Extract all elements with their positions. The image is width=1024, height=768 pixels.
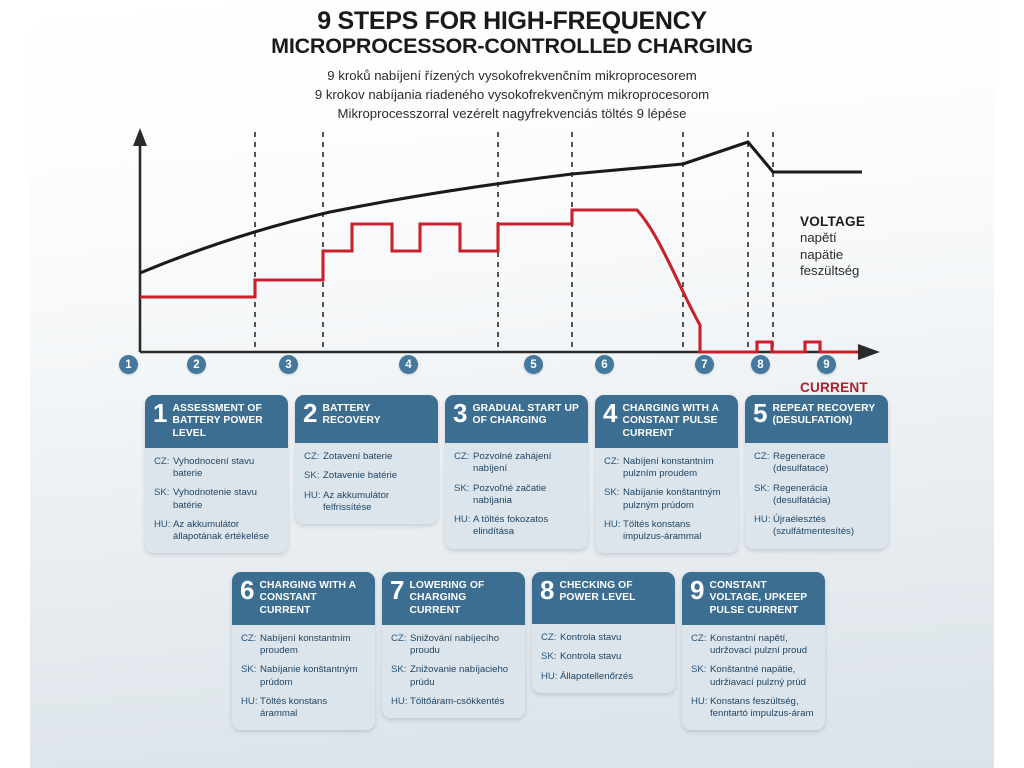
step-card-body-1: CZ:Vyhodnocení stavu baterieSK:Vyhodnote…	[145, 448, 288, 554]
step-card-body-3: CZ:Pozvolné zahájení nabíjeníSK:Pozvoľné…	[445, 443, 588, 549]
translation-text: Kontrola stavu	[560, 632, 666, 644]
step-card-number-8: 8	[540, 579, 554, 603]
x-axis	[140, 344, 880, 360]
translation-text: Konštantné napätie, udržiavací pulzný pr…	[710, 664, 816, 689]
legend-voltage-sk: napätie	[800, 247, 865, 264]
step-card-6[interactable]: 6CHARGING WITH A CONSTANT CURRENTCZ:Nabí…	[232, 572, 375, 730]
current-upkeep-pulses	[748, 342, 858, 352]
step-card-translation-row: CZ:Pozvolné zahájení nabíjení	[454, 451, 579, 476]
step-card-translation-row: HU:Töltőáram-csökkentés	[391, 696, 516, 708]
step-card-number-1: 1	[153, 402, 167, 426]
translation-text: Znižovanie nabíjacieho prúdu	[410, 664, 516, 689]
translation-text: Zotavenie batérie	[323, 470, 429, 482]
translation-text: Töltés konstans árammal	[260, 696, 366, 721]
axis-step-badge-4: 4	[399, 355, 418, 374]
axis-step-badge-6: 6	[595, 355, 614, 374]
language-code-label: HU:	[541, 671, 560, 683]
title-block: 9 STEPS FOR HIGH-FREQUENCY MICROPROCESSO…	[0, 8, 1024, 123]
step-card-header-2: 2BATTERY RECOVERY	[295, 395, 438, 443]
language-code-label: HU:	[241, 696, 260, 721]
translation-text: Snižování nabíjecího proudu	[410, 633, 516, 658]
translation-text: A töltés fokozatos elindítása	[473, 514, 579, 539]
step-card-title-5: REPEAT RECOVERY (DESULFATION)	[772, 402, 880, 428]
step-card-header-5: 5REPEAT RECOVERY (DESULFATION)	[745, 395, 888, 443]
legend-voltage-head: VOLTAGE	[800, 213, 865, 230]
step-card-title-9: CONSTANT VOLTAGE, UPKEEP PULSE CURRENT	[709, 579, 817, 617]
subtitle-block: 9 kroků nabíjení řízených vysokofrekvenč…	[0, 67, 1024, 123]
y-axis-arrow	[133, 128, 147, 146]
step-card-translation-row: CZ:Nabíjení konstantním pulzním proudem	[604, 456, 729, 481]
translation-text: Konstantní napětí, udržovací pulzní prou…	[710, 633, 816, 658]
language-code-label: SK:	[754, 483, 773, 508]
language-code-label: SK:	[241, 664, 260, 689]
axis-step-badge-8: 8	[751, 355, 770, 374]
step-card-translation-row: HU:Töltés konstans impulzus-árammal	[604, 519, 729, 544]
step-card-header-4: 4CHARGING WITH A CONSTANT PULSE CURRENT	[595, 395, 738, 448]
chart-svg	[0, 120, 1024, 385]
step-card-translation-row: SK:Konštantné napätie, udržiavací pulzný…	[691, 664, 816, 689]
translation-text: Nabíjanie konštantným prúdom	[260, 664, 366, 689]
translation-text: Zotavení baterie	[323, 451, 429, 463]
current-curve	[140, 210, 748, 352]
step-card-translation-row: SK:Znižovanie nabíjacieho prúdu	[391, 664, 516, 689]
language-code-label: CZ:	[541, 632, 560, 644]
step-card-translation-row: HU:A töltés fokozatos elindítása	[454, 514, 579, 539]
step-card-1[interactable]: 1ASSESSMENT OF BATTERY POWER LEVELCZ:Vyh…	[145, 395, 288, 553]
translation-text: Pozvoľné začatie nabíjania	[473, 483, 579, 508]
step-card-number-2: 2	[303, 402, 317, 426]
charging-curve-chart: VOLTAGE napětí napätie feszültség CURREN…	[0, 120, 1024, 385]
language-code-label: HU:	[691, 696, 710, 721]
language-code-label: SK:	[304, 470, 323, 482]
translation-text: Újraélesztés (szulfátmentesítés)	[773, 514, 879, 539]
main-title-line1: 9 STEPS FOR HIGH-FREQUENCY	[0, 8, 1024, 34]
language-code-label: HU:	[454, 514, 473, 539]
language-code-label: CZ:	[391, 633, 410, 658]
step-card-title-1: ASSESSMENT OF BATTERY POWER LEVEL	[172, 402, 280, 440]
step-card-header-3: 3GRADUAL START UP OF CHARGING	[445, 395, 588, 443]
step-card-translation-row: CZ:Nabíjení konstantním proudem	[241, 633, 366, 658]
language-code-label: CZ:	[154, 456, 173, 481]
step-card-translation-row: CZ:Vyhodnocení stavu baterie	[154, 456, 279, 481]
language-code-label: CZ:	[304, 451, 323, 463]
language-code-label: SK:	[454, 483, 473, 508]
language-code-label: SK:	[691, 664, 710, 689]
step-card-title-6: CHARGING WITH A CONSTANT CURRENT	[259, 579, 367, 617]
x-axis-arrow	[858, 344, 880, 360]
axis-step-badge-1: 1	[119, 355, 138, 374]
language-code-label: HU:	[604, 519, 623, 544]
translation-text: Az akkumulátor felfrissítése	[323, 490, 429, 515]
translation-text: Regenerácia (desulfatácia)	[773, 483, 879, 508]
language-code-label: HU:	[391, 696, 410, 708]
step-card-body-4: CZ:Nabíjení konstantním pulzním proudemS…	[595, 448, 738, 554]
translation-text: Kontrola stavu	[560, 651, 666, 663]
step-card-7[interactable]: 7LOWERING OF CHARGING CURRENTCZ:Snižován…	[382, 572, 525, 718]
step-card-body-8: CZ:Kontrola stavuSK:Kontrola stavuHU:Áll…	[532, 624, 675, 693]
step-card-number-4: 4	[603, 402, 617, 426]
main-title-line2: MICROPROCESSOR-CONTROLLED CHARGING	[0, 34, 1024, 58]
translation-text: Az akkumulátor állapotának értékelése	[173, 519, 279, 544]
step-card-title-8: CHECKING OF POWER LEVEL	[559, 579, 667, 605]
translation-text: Nabíjanie konštantným pulzným prúdom	[623, 487, 729, 512]
translation-text: Regenerace (desulfatace)	[773, 451, 879, 476]
step-card-number-5: 5	[753, 402, 767, 426]
language-code-label: CZ:	[754, 451, 773, 476]
language-code-label: CZ:	[241, 633, 260, 658]
axis-step-badge-2: 2	[187, 355, 206, 374]
step-card-body-7: CZ:Snižování nabíjecího prouduSK:Znižova…	[382, 625, 525, 718]
voltage-curve	[140, 142, 862, 273]
axis-step-badge-9: 9	[817, 355, 836, 374]
language-code-label: CZ:	[691, 633, 710, 658]
language-code-label: SK:	[154, 487, 173, 512]
translation-text: Pozvolné zahájení nabíjení	[473, 451, 579, 476]
translation-text: Állapotellenőrzés	[560, 671, 666, 683]
step-card-translation-row: HU:Állapotellenőrzés	[541, 671, 666, 683]
step-card-8[interactable]: 8CHECKING OF POWER LEVELCZ:Kontrola stav…	[532, 572, 675, 693]
step-card-translation-row: SK:Nabíjanie konštantným pulzným prúdom	[604, 487, 729, 512]
translation-text: Vyhodnotenie stavu batérie	[173, 487, 279, 512]
step-card-body-2: CZ:Zotavení baterieSK:Zotavenie batérieH…	[295, 443, 438, 524]
step-card-translation-row: HU:Újraélesztés (szulfátmentesítés)	[754, 514, 879, 539]
infographic-stage: 9 STEPS FOR HIGH-FREQUENCY MICROPROCESSO…	[0, 0, 1024, 768]
language-code-label: HU:	[154, 519, 173, 544]
step-card-header-9: 9CONSTANT VOLTAGE, UPKEEP PULSE CURRENT	[682, 572, 825, 625]
step-card-9[interactable]: 9CONSTANT VOLTAGE, UPKEEP PULSE CURRENTC…	[682, 572, 825, 730]
step-card-translation-row: HU:Az akkumulátor állapotának értékelése	[154, 519, 279, 544]
step-card-title-4: CHARGING WITH A CONSTANT PULSE CURRENT	[622, 402, 730, 440]
step-card-translation-row: CZ:Snižování nabíjecího proudu	[391, 633, 516, 658]
step-card-title-3: GRADUAL START UP OF CHARGING	[472, 402, 580, 428]
step-card-translation-row: SK:Nabíjanie konštantným prúdom	[241, 664, 366, 689]
step-card-2[interactable]: 2BATTERY RECOVERYCZ:Zotavení baterieSK:Z…	[295, 395, 438, 524]
step-card-translation-row: SK:Kontrola stavu	[541, 651, 666, 663]
axis-step-badge-3: 3	[279, 355, 298, 374]
translation-text: Nabíjení konstantním proudem	[260, 633, 366, 658]
step-card-translation-row: HU:Konstans feszültség, fenntartó impulz…	[691, 696, 816, 721]
step-card-header-7: 7LOWERING OF CHARGING CURRENT	[382, 572, 525, 625]
step-card-number-6: 6	[240, 579, 254, 603]
axis-step-badge-5: 5	[524, 355, 543, 374]
step-card-3[interactable]: 3GRADUAL START UP OF CHARGINGCZ:Pozvolné…	[445, 395, 588, 549]
step-card-header-6: 6CHARGING WITH A CONSTANT CURRENT	[232, 572, 375, 625]
step-card-number-7: 7	[390, 579, 404, 603]
step-card-body-9: CZ:Konstantní napětí, udržovací pulzní p…	[682, 625, 825, 731]
step-card-translation-row: CZ:Regenerace (desulfatace)	[754, 451, 879, 476]
step-card-4[interactable]: 4CHARGING WITH A CONSTANT PULSE CURRENTC…	[595, 395, 738, 553]
language-code-label: CZ:	[454, 451, 473, 476]
step-card-header-1: 1ASSESSMENT OF BATTERY POWER LEVEL	[145, 395, 288, 448]
step-card-translation-row: CZ:Konstantní napětí, udržovací pulzní p…	[691, 633, 816, 658]
legend-current-head: CURRENT	[800, 379, 868, 396]
step-card-translation-row: SK:Zotavenie batérie	[304, 470, 429, 482]
step-card-title-2: BATTERY RECOVERY	[322, 402, 430, 428]
step-card-body-6: CZ:Nabíjení konstantním proudemSK:Nabíja…	[232, 625, 375, 731]
step-card-5[interactable]: 5REPEAT RECOVERY (DESULFATION)CZ:Regener…	[745, 395, 888, 549]
language-code-label: HU:	[304, 490, 323, 515]
language-code-label: SK:	[604, 487, 623, 512]
translation-text: Töltőáram-csökkentés	[410, 696, 516, 708]
step-card-translation-row: HU:Töltés konstans árammal	[241, 696, 366, 721]
step-card-header-8: 8CHECKING OF POWER LEVEL	[532, 572, 675, 624]
step-card-translation-row: SK:Vyhodnotenie stavu batérie	[154, 487, 279, 512]
step-card-translation-row: SK:Pozvoľné začatie nabíjania	[454, 483, 579, 508]
step-card-translation-row: HU:Az akkumulátor felfrissítése	[304, 490, 429, 515]
step-card-number-3: 3	[453, 402, 467, 426]
language-code-label: CZ:	[604, 456, 623, 481]
step-card-body-5: CZ:Regenerace (desulfatace)SK:Regeneráci…	[745, 443, 888, 549]
translation-text: Töltés konstans impulzus-árammal	[623, 519, 729, 544]
legend-voltage: VOLTAGE napětí napätie feszültség	[800, 213, 865, 280]
translation-text: Konstans feszültség, fenntartó impulzus-…	[710, 696, 816, 721]
legend-voltage-cz: napětí	[800, 230, 865, 247]
step-card-translation-row: CZ:Kontrola stavu	[541, 632, 666, 644]
language-code-label: HU:	[754, 514, 773, 539]
language-code-label: SK:	[391, 664, 410, 689]
step-card-translation-row: CZ:Zotavení baterie	[304, 451, 429, 463]
step-card-title-7: LOWERING OF CHARGING CURRENT	[409, 579, 517, 617]
subtitle-sk: 9 krokov nabíjania riadeného vysokofrekv…	[0, 86, 1024, 105]
step-card-number-9: 9	[690, 579, 704, 603]
translation-text: Vyhodnocení stavu baterie	[173, 456, 279, 481]
translation-text: Nabíjení konstantním pulzním proudem	[623, 456, 729, 481]
subtitle-cz: 9 kroků nabíjení řízených vysokofrekvenč…	[0, 67, 1024, 86]
axis-step-badge-7: 7	[695, 355, 714, 374]
language-code-label: SK:	[541, 651, 560, 663]
legend-voltage-hu: feszültség	[800, 263, 865, 280]
step-card-translation-row: SK:Regenerácia (desulfatácia)	[754, 483, 879, 508]
y-axis	[133, 128, 147, 352]
